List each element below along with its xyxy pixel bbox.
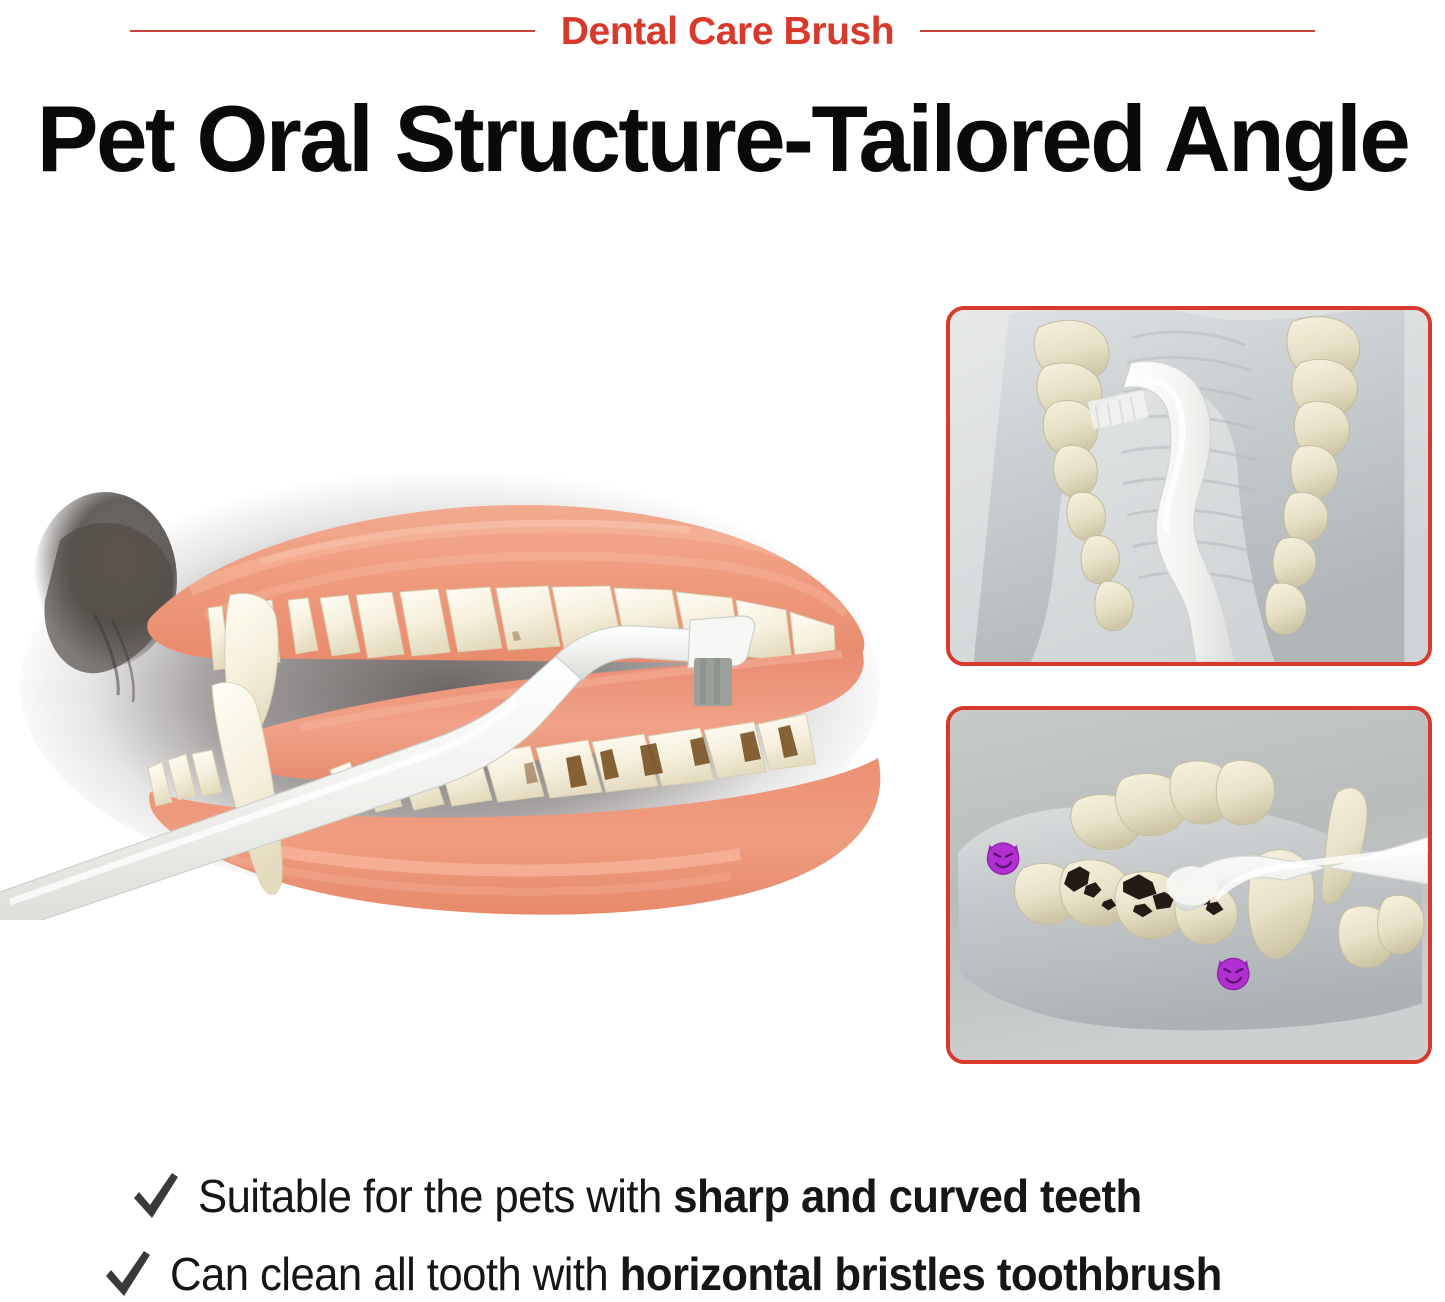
page-title: Pet Oral Structure-Tailored Angle (11, 92, 1434, 186)
header-eyebrow-row: Dental Care Brush (0, 0, 1445, 62)
bullet-plain: Can clean all tooth with (170, 1248, 620, 1300)
eyebrow-title: Dental Care Brush (561, 12, 894, 51)
list-item: Suitable for the pets with sharp and cur… (128, 1158, 1191, 1219)
bristle-block (694, 658, 732, 706)
bullet-text: Can clean all tooth with horizontal bris… (170, 1251, 1222, 1297)
divider-right (920, 30, 1315, 32)
dental-model-upper-jaw-photo[interactable] (946, 306, 1432, 666)
list-item: Can clean all tooth with horizontal bris… (100, 1236, 1277, 1297)
devil-emoji-marker (987, 843, 1018, 874)
feature-bullets: Suitable for the pets with sharp and cur… (0, 1148, 1445, 1298)
dog-mouth-illustration (0, 440, 900, 920)
devil-emoji-marker (1218, 958, 1249, 989)
divider-left (130, 30, 535, 32)
bullet-bold: sharp and curved teeth (673, 1170, 1141, 1222)
bullet-bold: horizontal bristles toothbrush (620, 1248, 1222, 1300)
bullet-plain: Suitable for the pets with (198, 1170, 673, 1222)
check-icon (128, 1170, 182, 1224)
bullet-text: Suitable for the pets with sharp and cur… (198, 1173, 1142, 1219)
check-icon (100, 1248, 154, 1302)
dental-model-side-view-photo[interactable] (946, 706, 1432, 1064)
